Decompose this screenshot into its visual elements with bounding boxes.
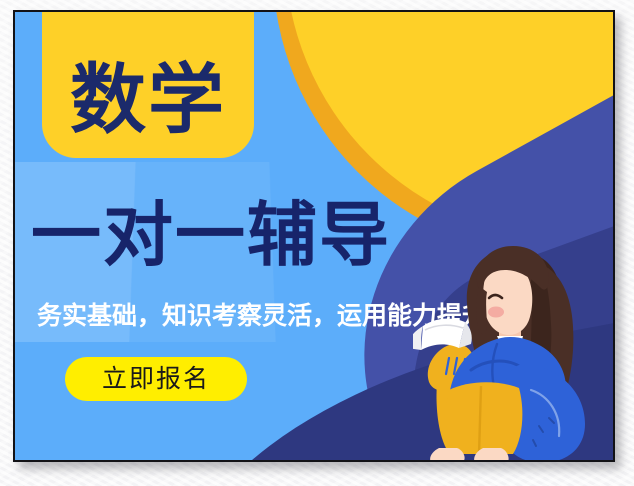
signup-button-label: 立即报名 — [102, 367, 210, 392]
course-promo-poster: 数学 一对一辅导 务实基础，知识考察灵活，运用能力提升 — [13, 10, 615, 462]
signup-button[interactable]: 立即报名 — [65, 357, 247, 401]
girl-reading-illustration — [413, 240, 615, 462]
subject-chip: 数学 — [42, 10, 254, 158]
subject-chip-label: 数学 — [70, 62, 226, 152]
screenshot-root: 数学 一对一辅导 务实基础，知识考察灵活，运用能力提升 — [0, 0, 634, 486]
